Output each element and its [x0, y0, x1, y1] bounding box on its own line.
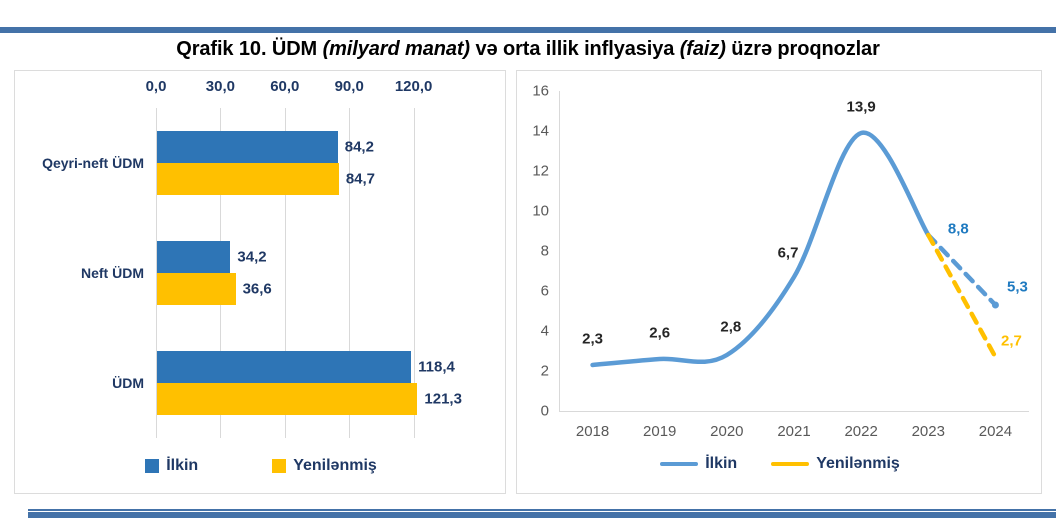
bar-ilkin	[157, 131, 338, 163]
bar-legend-label: İlkin	[166, 457, 198, 475]
line-chart-x-tick-label: 2020	[710, 423, 743, 440]
figure-title-italic-units-1: (milyard manat)	[323, 38, 470, 60]
line-chart-x-tick-label: 2024	[979, 423, 1012, 440]
bar-chart-x-tick-label: 30,0	[206, 78, 235, 95]
bottom-divider-rule-thick	[28, 512, 1056, 518]
line-chart-y-tick-label: 0	[525, 403, 549, 420]
line-chart-y-tick-label: 2	[525, 363, 549, 380]
bar-value-label: 34,2	[237, 249, 266, 266]
line-chart-y-tick-label: 8	[525, 243, 549, 260]
line-point-value-label: 2,8	[720, 319, 741, 336]
figure-title: Qrafik 10. ÜDM (milyard manat) və orta i…	[0, 38, 1056, 61]
bar-chart-x-tick-label: 90,0	[335, 78, 364, 95]
bar-value-label: 118,4	[418, 359, 455, 376]
line-chart-x-tick-label: 2018	[576, 423, 609, 440]
line-chart-y-tick-label: 16	[525, 83, 549, 100]
figure-title-suffix: üzrə proqnozlar	[726, 38, 880, 60]
line-point-value-label: 2,7	[1001, 333, 1022, 350]
top-divider-rule	[0, 27, 1056, 33]
bar-chart-x-tick-label: 60,0	[270, 78, 299, 95]
bar-chart-plot-area: 0,030,060,090,0120,0Qeyri-neft ÜDM84,284…	[156, 108, 478, 438]
bar-value-label: 121,3	[424, 391, 462, 408]
legend-swatch-icon	[272, 459, 286, 473]
bar-ilkin	[157, 351, 411, 383]
line-chart-x-tick-label: 2021	[777, 423, 810, 440]
x-axis-line	[559, 411, 1029, 412]
line-chart-panel: 0246810121416201820192020202120222023202…	[516, 70, 1042, 494]
line-legend-label: Yenilənmiş	[816, 455, 900, 473]
bar-value-label: 84,2	[345, 139, 374, 156]
bar-legend-label: Yenilənmiş	[293, 457, 377, 475]
bar-ilkin	[157, 241, 230, 273]
bar-legend-item[interactable]: İlkin	[145, 457, 198, 475]
line-point-value-label: 2,3	[582, 331, 603, 348]
bottom-divider-rule-thin	[28, 509, 1056, 511]
legend-swatch-icon	[145, 459, 159, 473]
bar-value-label: 84,7	[346, 171, 375, 188]
bar-chart-category-label: ÜDM	[112, 375, 144, 391]
line-chart-y-tick-label: 12	[525, 163, 549, 180]
line-chart-x-tick-label: 2023	[912, 423, 945, 440]
line-point-value-label: 5,3	[1007, 279, 1028, 296]
line-chart-y-tick-label: 10	[525, 203, 549, 220]
bar-chart-panel: 0,030,060,090,0120,0Qeyri-neft ÜDM84,284…	[14, 70, 506, 494]
line-point-value-label: 2,6	[649, 325, 670, 342]
legend-line-icon	[771, 462, 809, 466]
bar-chart-category-label: Neft ÜDM	[81, 265, 144, 281]
bar-chart-x-tick-label: 0,0	[146, 78, 167, 95]
line-chart-x-tick-label: 2022	[844, 423, 877, 440]
line-chart-plot-area: 0246810121416201820192020202120222023202…	[559, 91, 1029, 431]
line-chart-y-tick-label: 4	[525, 323, 549, 340]
bar-yenilenmis	[157, 383, 417, 415]
line-series-ilkin-dashed	[928, 235, 995, 305]
figure-title-italic-units-2: (faiz)	[680, 38, 726, 60]
bar-yenilenmis	[157, 273, 236, 305]
legend-line-icon	[660, 462, 698, 466]
line-point-value-label: 13,9	[847, 99, 876, 116]
bar-chart-legend: İlkinYenilənmiş	[15, 457, 507, 475]
bar-yenilenmis	[157, 163, 339, 195]
line-point-value-label: 6,7	[778, 245, 799, 262]
line-legend-label: İlkin	[705, 455, 737, 473]
bar-value-label: 36,6	[243, 281, 272, 298]
figure-title-prefix: Qrafik 10. ÜDM	[176, 38, 322, 60]
line-series-ilkin-solid	[593, 133, 929, 365]
line-legend-item[interactable]: Yenilənmiş	[771, 455, 900, 473]
line-chart-x-tick-label: 2019	[643, 423, 676, 440]
line-chart-y-tick-label: 6	[525, 283, 549, 300]
bar-chart-category-label: Qeyri-neft ÜDM	[42, 155, 144, 171]
line-legend-item[interactable]: İlkin	[660, 455, 737, 473]
figure-title-middle: və orta illik inflyasiya	[470, 38, 680, 60]
line-endpoint-marker	[992, 302, 999, 309]
line-chart-y-tick-label: 14	[525, 123, 549, 140]
line-chart-legend: İlkinYenilənmiş	[517, 455, 1043, 473]
bar-chart-x-tick-label: 120,0	[395, 78, 433, 95]
bar-legend-item[interactable]: Yenilənmiş	[272, 457, 377, 475]
line-point-value-label: 8,8	[948, 221, 969, 238]
